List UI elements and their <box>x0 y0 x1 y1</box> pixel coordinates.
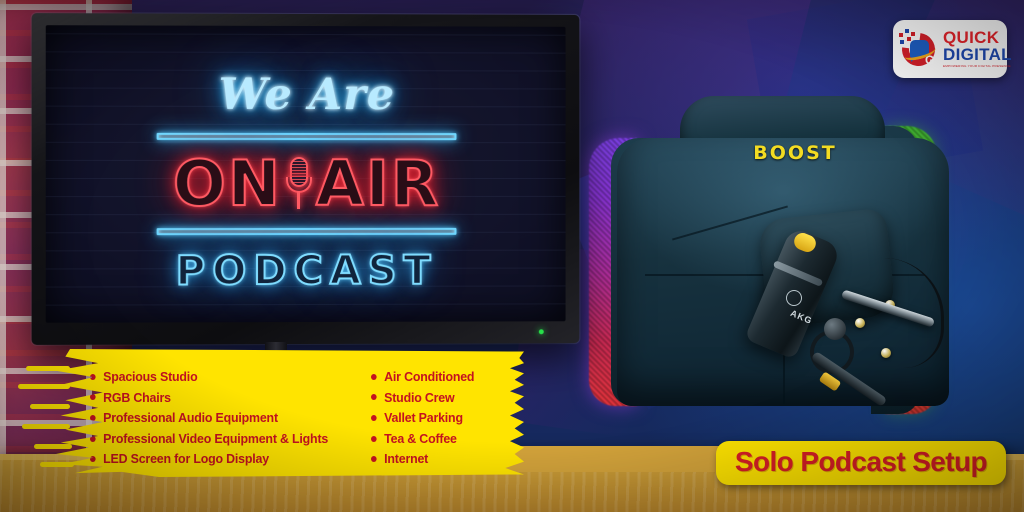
mic-cable <box>884 258 944 368</box>
neon-divider-top <box>157 133 457 140</box>
bullet-icon <box>371 374 377 380</box>
features-left-column: Spacious Studio RGB Chairs Professional … <box>90 367 365 477</box>
logo-wordmark: QUICK DIGITAL EMPOWERING YOUR DIGITAL PR… <box>943 29 1012 68</box>
feature-item: Internet <box>371 449 506 469</box>
boom-arm-joint <box>824 318 846 340</box>
bullet-icon <box>90 415 96 421</box>
chair-brand-logo: BOOST <box>735 142 855 164</box>
banner-brush-streak <box>30 404 70 409</box>
microphone-icon <box>286 155 312 213</box>
bullet-icon <box>90 394 96 400</box>
bullet-icon <box>371 436 377 442</box>
feature-item: Professional Video Equipment & Lights <box>90 429 348 449</box>
bullet-icon <box>371 415 377 421</box>
neon-we-are-text: We Are <box>46 69 566 120</box>
on-air-neon-sign: We Are ON AIR PODCAST <box>46 69 566 294</box>
solo-podcast-setup-badge: Solo Podcast Setup <box>716 441 1006 485</box>
neon-air-text: AIR <box>316 153 440 215</box>
feature-label: Professional Audio Equipment <box>103 408 278 428</box>
feature-label: Air Conditioned <box>384 367 474 387</box>
feature-item: Vallet Parking <box>371 408 506 428</box>
badge-label: Solo Podcast Setup <box>735 446 987 477</box>
feature-item: Professional Audio Equipment <box>90 408 348 428</box>
feature-item: Studio Crew <box>371 388 506 408</box>
logo-pixel <box>900 40 904 44</box>
logo-pixel <box>899 33 903 37</box>
feature-item: Air Conditioned <box>371 367 506 387</box>
wall-mounted-tv: We Are ON AIR PODCAST <box>32 13 580 345</box>
tv-screen: We Are ON AIR PODCAST <box>46 25 566 323</box>
feature-item: Spacious Studio <box>90 367 348 387</box>
logo-pixel <box>905 29 909 33</box>
logo-mark-icon: G <box>899 29 939 69</box>
features-right-column: Air Conditioned Studio Crew Vallet Parki… <box>371 367 514 477</box>
tv-power-led <box>539 329 544 334</box>
features-banner: Spacious Studio RGB Chairs Professional … <box>56 349 524 477</box>
bullet-icon <box>90 456 96 462</box>
feature-item: RGB Chairs <box>90 388 348 408</box>
feature-label: Spacious Studio <box>103 367 197 387</box>
banner-brush-streak <box>40 462 74 467</box>
logo-pixel <box>911 32 915 36</box>
bullet-icon <box>371 394 377 400</box>
logo-tagline: EMPOWERING YOUR DIGITAL PRESENCE <box>943 65 1012 68</box>
feature-label: Vallet Parking <box>384 408 463 428</box>
feature-label: Tea & Coffee <box>384 429 457 449</box>
feature-label: RGB Chairs <box>103 388 171 408</box>
logo-quick-text: QUICK <box>943 29 1012 46</box>
banner-brush-streak <box>22 424 70 429</box>
neon-divider-bottom <box>157 228 457 235</box>
banner-brush-streak <box>18 384 70 389</box>
logo-pixel <box>907 37 911 41</box>
feature-label: Professional Video Equipment & Lights <box>103 429 328 449</box>
feature-label: LED Screen for Logo Display <box>103 449 269 469</box>
features-columns: Spacious Studio RGB Chairs Professional … <box>56 349 524 477</box>
neon-on-text: ON <box>173 153 282 215</box>
feature-label: Internet <box>384 449 428 469</box>
logo-digital-text: DIGITAL <box>943 46 1012 63</box>
feature-item: LED Screen for Logo Display <box>90 449 348 469</box>
neon-podcast-text: PODCAST <box>46 248 566 295</box>
neon-on-air-row: ON AIR <box>46 153 566 215</box>
banner-brush-streak <box>26 366 70 371</box>
feature-label: Studio Crew <box>384 388 454 408</box>
banner-brush-streak <box>34 444 72 449</box>
feature-item: Tea & Coffee <box>371 429 506 449</box>
condenser-microphone: AKG <box>766 226 956 406</box>
bullet-icon <box>371 456 377 462</box>
quick-digital-logo: G QUICK DIGITAL EMPOWERING YOUR DIGITAL … <box>893 20 1007 78</box>
podcast-studio-promo-graphic: BOOST AKG We Are ON <box>0 0 1024 512</box>
